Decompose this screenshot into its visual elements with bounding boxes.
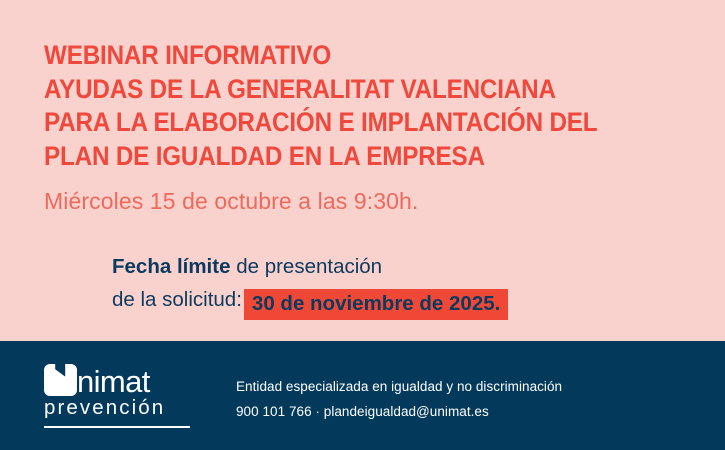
unimat-logo: nimat prevención: [44, 362, 204, 428]
hero-section: WEBINAR INFORMATIVO AYUDAS DE LA GENERAL…: [0, 0, 725, 341]
deadline-block: Fecha límite de presentación de la solic…: [112, 251, 508, 320]
event-datetime: Miércoles 15 de octubre a las 9:30h.: [44, 186, 418, 216]
unimat-u-block-icon: [44, 364, 77, 396]
headline-line-3: PARA LA ELABORACIÓN E IMPLANTACIÓN DEL: [44, 106, 630, 140]
contact-block: Entidad especializada en igualdad y no d…: [236, 374, 562, 424]
webinar-poster: WEBINAR INFORMATIVO AYUDAS DE LA GENERAL…: [0, 0, 725, 450]
contact-description: Entidad especializada en igualdad y no d…: [236, 374, 562, 399]
headline-line-2: AYUDAS DE LA GENERALITAT VALENCIANA: [44, 73, 630, 107]
deadline-line-2: de la solicitud:30 de noviembre de 2025.: [112, 284, 508, 320]
logo-underline-rule: [44, 426, 190, 428]
deadline-label-rest: de presentación: [231, 255, 383, 278]
contact-phone-email: 900 101 766 · plandeigualdad@unimat.es: [236, 399, 562, 424]
logo-top-row: nimat: [44, 362, 204, 396]
deadline-date-highlight: 30 de noviembre de 2025.: [244, 289, 508, 320]
deadline-prefix: de la solicitud:: [112, 288, 242, 311]
deadline-label: Fecha límite: [112, 255, 231, 278]
headline-block: WEBINAR INFORMATIVO AYUDAS DE LA GENERAL…: [44, 39, 684, 173]
headline-line-1: WEBINAR INFORMATIVO: [44, 39, 630, 73]
logo-tagline: prevención: [44, 397, 204, 419]
logo-wordmark: nimat: [77, 366, 150, 397]
footer-section: nimat prevención Entidad especializada e…: [0, 341, 725, 450]
headline-line-4: PLAN DE IGUALDAD EN LA EMPRESA: [44, 140, 630, 174]
deadline-line-1: Fecha límite de presentación: [112, 251, 508, 283]
